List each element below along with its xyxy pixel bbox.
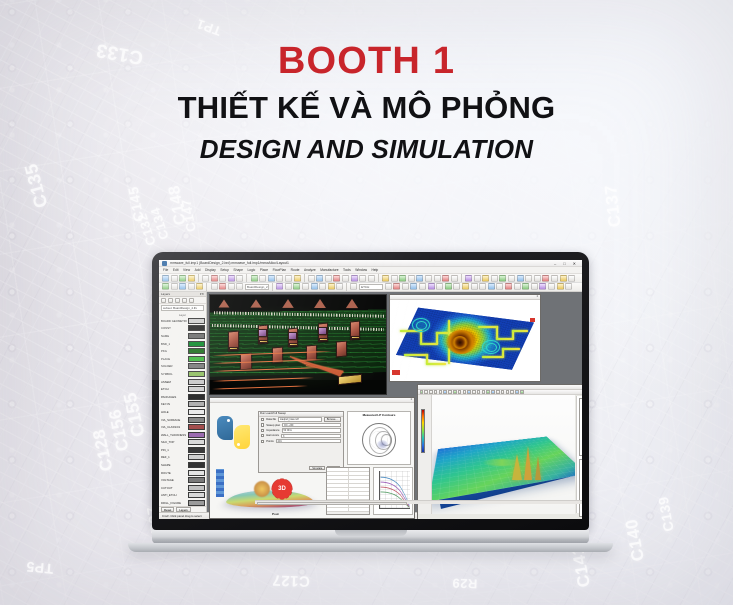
toolbar-button-icon[interactable]	[565, 283, 572, 290]
layer-color-swatch[interactable]	[188, 432, 205, 438]
toolbar-button-icon[interactable]	[391, 275, 398, 282]
layer-color-swatch[interactable]	[188, 348, 205, 354]
parameter-cell	[327, 472, 349, 475]
result-chart-selfheated[interactable]: Self-heated Current vs. DC Sweep (HPC) S…	[579, 398, 582, 456]
toolbar-separator	[378, 274, 379, 282]
menu-item-setup[interactable]: Setup	[220, 268, 229, 272]
toolbar-button-icon[interactable]	[402, 283, 409, 290]
surface-toolbar-button-icon[interactable]	[443, 390, 447, 394]
toolbar-button-icon[interactable]	[451, 275, 458, 282]
layer-list[interactable]: BOARD GEOMETRYCONSTNAMEBND_1PKGPLACESOLD…	[159, 317, 206, 506]
dialog-browse-button[interactable]: Browse…	[324, 417, 341, 422]
result-chart-temps[interactable]: Device Temps vs. Transient Data Thermal …	[579, 459, 582, 517]
layer-row[interactable]: SILK_TOP	[160, 439, 205, 447]
toolbar-button-icon[interactable]	[568, 275, 575, 282]
results-panel[interactable]: Self-heated Current vs. DC Sweep (HPC) S…	[576, 396, 582, 513]
layer-row[interactable]: BND_1	[160, 340, 205, 348]
toolbar-button-icon[interactable]	[499, 275, 506, 282]
result-chart-2-title: Device Temps vs. Transient Data	[580, 460, 582, 464]
em-transmission-line	[502, 348, 520, 350]
surface-toolbar-button-icon[interactable]	[439, 390, 443, 394]
toolbar-button-icon[interactable]	[531, 283, 538, 290]
toolbar-button-icon[interactable]	[410, 283, 417, 290]
parameter-cell	[349, 480, 370, 483]
toolbar-button-icon[interactable]	[434, 275, 441, 282]
eda-application-window: mmwave_full.imp1 (BoardDesign_2.brd) mmw…	[159, 260, 582, 519]
mini-surface-label: Pout	[272, 512, 279, 516]
layer-row-label: REF_1	[160, 455, 187, 459]
toolbar-button-icon[interactable]	[471, 283, 478, 290]
mini-surface-peak	[254, 481, 270, 497]
pcb-gold-pad	[229, 347, 238, 350]
layer-row-label: CONST	[160, 326, 187, 330]
toolbar-button-icon[interactable]	[171, 283, 178, 290]
surface-toolbar-button-icon[interactable]	[506, 390, 510, 394]
dialog-field-checkbox[interactable]	[261, 429, 264, 432]
python-logo-yellow-half	[234, 425, 250, 449]
app-toolbar-row2[interactable]: BoardDesign_2ETCH	[159, 283, 582, 291]
toolbar-button-icon[interactable]	[336, 283, 343, 290]
toolbar-button-icon[interactable]	[522, 283, 529, 290]
smith-chart-panel[interactable]: Measured LP Contours	[347, 411, 411, 465]
surface-toolbar-button-icon[interactable]	[482, 390, 486, 394]
toolbar-button-icon[interactable]	[276, 275, 283, 282]
toolbar-button-icon[interactable]	[350, 283, 357, 290]
toolbar-button-icon[interactable]	[196, 283, 203, 290]
parameter-cell	[327, 492, 349, 495]
pcb-die	[288, 332, 297, 340]
layer-color-swatch[interactable]	[188, 447, 205, 453]
layer-row[interactable]: VIA_SURFACE	[160, 416, 205, 424]
surface-toolbar-button-icon[interactable]	[520, 390, 524, 394]
layer-color-swatch[interactable]	[188, 424, 205, 430]
toolbar-button-icon[interactable]	[408, 275, 415, 282]
dialog-field-input[interactable]: loadpull_bias.mdf	[278, 417, 322, 421]
menu-item-logic[interactable]: Logic	[247, 268, 255, 272]
app-title-text: mmwave_full.imp1 (BoardDesign_2.brd) mmw…	[170, 261, 551, 265]
surface-toolbar-button-icon[interactable]	[434, 390, 438, 394]
dialog-field-row[interactable]: Points201	[259, 438, 343, 443]
pcb-fan-connector	[314, 299, 326, 308]
toolbar-button-icon[interactable]	[325, 275, 332, 282]
em-port-marker	[530, 318, 535, 322]
result-chart-1-title: Self-heated Current vs. DC Sweep (HPC)	[580, 399, 582, 403]
layer-row[interactable]: ANTI_ETCH	[160, 492, 205, 500]
parameter-cell	[327, 484, 349, 487]
layer-row[interactable]: ASSEM	[160, 378, 205, 386]
menu-item-window[interactable]: Window	[355, 268, 367, 272]
toolbar-button-icon[interactable]	[385, 283, 392, 290]
surface-colorbar	[421, 409, 425, 453]
toolbar-button-icon[interactable]	[368, 275, 375, 282]
layer-row-label: ROUTE	[160, 471, 187, 475]
dialog-field-checkbox[interactable]	[261, 440, 264, 443]
surface-toolbar-button-icon[interactable]	[448, 390, 452, 394]
layer-row-label: VIA_CLASS/01	[160, 425, 187, 429]
toolbar-button-icon[interactable]	[505, 283, 512, 290]
em-spiral-inductor	[486, 343, 497, 352]
surface-toolbar-button-icon[interactable]	[463, 390, 467, 394]
toolbar-button-icon[interactable]	[162, 283, 169, 290]
menu-item-display[interactable]: Display	[205, 268, 216, 272]
english-title: DESIGN AND SIMULATION	[0, 135, 733, 165]
maximize-icon[interactable]: □	[563, 261, 565, 266]
toolbar-separator	[346, 283, 347, 291]
surface-toolbar-button-icon[interactable]	[453, 390, 457, 394]
em-transmission-line	[404, 354, 428, 356]
layer-color-swatch[interactable]	[188, 470, 205, 476]
surface-toolbar-button-icon[interactable]	[501, 390, 505, 394]
canvas-horizontal-scrollbar[interactable]	[255, 500, 582, 504]
layer-row-label: PKG	[160, 349, 187, 353]
toolbar-button-icon[interactable]	[416, 275, 423, 282]
layer-row[interactable]: ETCH	[160, 385, 205, 393]
toolbar-button-icon[interactable]	[228, 275, 235, 282]
loadpull-gain-chart[interactable]	[373, 467, 413, 515]
toolbar-button-icon[interactable]	[462, 283, 469, 290]
python-window-close-icon[interactable]: ✕	[410, 398, 412, 401]
app-menubar[interactable]: FileEditViewAddDisplaySetupShapeLogicPla…	[159, 267, 582, 274]
toolbar-separator	[461, 274, 462, 282]
layer-row[interactable]: BOARD GEOMETRY	[160, 317, 205, 325]
layer-row[interactable]: PKG	[160, 347, 205, 355]
canvas-scrollbar-thumb[interactable]	[257, 502, 407, 505]
toolbar-button-icon[interactable]	[293, 283, 300, 290]
toolbar-button-icon[interactable]	[342, 275, 349, 282]
poster-headings: BOOTH 1 THIẾT KẾ VÀ MÔ PHỎNG DESIGN AND …	[0, 42, 733, 165]
layer-row[interactable]: NAME	[160, 332, 205, 340]
layer-color-swatch[interactable]	[188, 454, 205, 460]
layer-row-label: ETCH	[160, 387, 187, 391]
layer-color-swatch[interactable]	[188, 363, 205, 369]
mini-surface-mesh	[223, 490, 317, 507]
parameter-cell	[327, 508, 349, 511]
layer-filter-icon[interactable]	[182, 298, 187, 303]
loadpull-dialog-title: Run Load-Pull Sweep	[260, 412, 286, 415]
layer-new-icon[interactable]	[161, 298, 166, 303]
layer-row[interactable]: REF_1	[160, 454, 205, 462]
design-canvas[interactable]: EM Current Density ✕	[207, 292, 582, 513]
surface-toolbar-button-icon[interactable]	[477, 390, 481, 394]
menu-item-view[interactable]: View	[183, 268, 190, 272]
layer-edit-icon[interactable]	[168, 298, 173, 303]
layer-row-label: SILK_TOP	[160, 440, 187, 444]
toolbar-button-icon[interactable]	[442, 275, 449, 282]
layer-panel-toolbar[interactable]	[159, 297, 206, 304]
layer-row[interactable]: SHAPE	[160, 461, 205, 469]
surface-toolbar-button-icon[interactable]	[491, 390, 495, 394]
toolbar-button-icon[interactable]	[219, 283, 226, 290]
menu-item-place[interactable]: Place	[260, 268, 268, 272]
toolbar-button-icon[interactable]	[399, 275, 406, 282]
toolbar-button-icon[interactable]	[162, 275, 169, 282]
toolbar-button-icon[interactable]	[219, 275, 226, 282]
python-logo-blue-half	[217, 416, 233, 440]
toolbar-button-icon[interactable]	[382, 275, 389, 282]
layer-row[interactable]: VIA_CLASS/01	[160, 423, 205, 431]
surface-toolbar-button-icon[interactable]	[472, 390, 476, 394]
em-transmission-line	[482, 356, 504, 358]
toolbar-button-icon[interactable]	[465, 275, 472, 282]
loadpull-dialog-fields[interactable]: Data fileloadpull_bias.mdfBrowse…Sweep p…	[259, 417, 343, 444]
toolbar-button-icon[interactable]	[517, 275, 524, 282]
menu-item-add[interactable]: Add	[195, 268, 201, 272]
surface-toolbar-button-icon[interactable]	[515, 390, 519, 394]
dialog-field-checkbox[interactable]	[261, 434, 264, 437]
layer-color-swatch[interactable]	[188, 439, 205, 445]
dialog-field-input[interactable]: 3	[281, 434, 341, 438]
toolbar-button-icon[interactable]	[188, 275, 195, 282]
toolbar-button-icon[interactable]	[436, 283, 443, 290]
smith-chart-title: Measured LP Contours	[348, 412, 410, 417]
layer-row-label: PACKAGES	[160, 395, 187, 399]
toolbar-button-icon[interactable]	[236, 283, 243, 290]
menu-item-manufacture[interactable]: Manufacture	[320, 268, 338, 272]
toolbar-button-icon[interactable]	[228, 283, 235, 290]
layer-row[interactable]: VOLTAGE	[160, 476, 205, 484]
toolbar-button-icon[interactable]	[211, 283, 218, 290]
dialog-field-input[interactable]: 201	[276, 439, 341, 443]
layer-row-label: VIA_SURFACE	[160, 418, 187, 422]
booth-number-title: BOOTH 1	[0, 42, 733, 82]
menu-item-file[interactable]: File	[163, 268, 168, 272]
layer-row-label: SHAPE	[160, 463, 187, 467]
toolbar-button-icon[interactable]	[548, 283, 555, 290]
surface-3d-viewport[interactable]	[432, 395, 575, 514]
surface-toolbar-button-icon[interactable]	[458, 390, 462, 394]
layer-color-swatch[interactable]	[188, 325, 205, 331]
em-simulation-window[interactable]: EM Current Density ✕	[389, 294, 541, 382]
pcb-die	[318, 327, 327, 335]
toolbar-button-icon[interactable]	[560, 275, 567, 282]
menu-item-route[interactable]: Route	[291, 268, 300, 272]
app-toolbar-row1[interactable]	[159, 274, 582, 283]
parameter-table-rows	[327, 468, 369, 512]
pcb-3d-layout-window[interactable]	[209, 294, 387, 395]
pcb-gold-pad	[319, 338, 328, 341]
toolbar-button-icon[interactable]	[308, 275, 315, 282]
python-logo-blue-eye	[227, 419, 230, 422]
dialog-field-label: Sweep plan	[266, 424, 280, 427]
toolbar-button-icon[interactable]	[285, 283, 292, 290]
python-logo	[217, 416, 250, 449]
dialog-field-checkbox[interactable]	[261, 418, 264, 421]
layer-row[interactable]: KEY-IN	[160, 401, 205, 409]
toolbar-button-icon[interactable]	[294, 275, 301, 282]
layer-color-swatch[interactable]	[188, 409, 205, 415]
layer-row-label: NAME	[160, 334, 187, 338]
layer-row-label: ANTI_ETCH	[160, 493, 187, 497]
dialog-field-label: Harmonics	[266, 434, 279, 437]
toolbar-button-icon[interactable]	[276, 283, 283, 290]
layer-row[interactable]: ROUTE	[160, 469, 205, 477]
menu-item-help[interactable]: Help	[371, 268, 378, 272]
toolbar-button-icon[interactable]	[202, 275, 209, 282]
layer-subset-select[interactable]: subset: BoardDesign_2.lfs	[161, 305, 204, 311]
design-name-field[interactable]: BoardDesign_2	[245, 284, 269, 291]
layer-color-swatch[interactable]	[188, 492, 205, 498]
layer-color-swatch[interactable]	[188, 341, 205, 347]
toolbar-button-icon[interactable]	[316, 275, 323, 282]
toolbar-button-icon[interactable]	[179, 275, 186, 282]
layer-row[interactable]: PIN_1	[160, 446, 205, 454]
toolbar-button-icon[interactable]	[482, 275, 489, 282]
laptop-screen: mmwave_full.imp1 (BoardDesign_2.brd) mmw…	[159, 260, 582, 519]
toolbar-button-icon[interactable]	[496, 283, 503, 290]
layer-color-swatch[interactable]	[188, 356, 205, 362]
toolbar-button-icon[interactable]	[302, 283, 309, 290]
pcb-gold-pad	[259, 340, 268, 343]
layer-color-swatch[interactable]	[188, 462, 205, 468]
toolbar-button-icon[interactable]	[333, 275, 340, 282]
app-titlebar: mmwave_full.imp1 (BoardDesign_2.brd) mmw…	[159, 260, 582, 267]
layer-color-swatch[interactable]	[188, 318, 205, 324]
layer-color-swatch[interactable]	[188, 417, 205, 423]
toolbar-button-icon[interactable]	[251, 275, 258, 282]
toolbar-button-icon[interactable]	[453, 283, 460, 290]
toolbar-button-icon[interactable]	[542, 275, 549, 282]
toolbar-button-icon[interactable]	[479, 283, 486, 290]
menu-item-tools[interactable]: Tools	[343, 268, 351, 272]
menu-item-shape[interactable]: Shape	[233, 268, 243, 272]
layer-row[interactable]: PACKAGES	[160, 393, 205, 401]
toolbar-button-icon[interactable]	[393, 283, 400, 290]
toolbar-button-icon[interactable]	[525, 275, 532, 282]
toolbar-button-icon[interactable]	[171, 275, 178, 282]
dialog-field-input[interactable]: 50 Ohm	[282, 428, 342, 432]
layer-color-swatch[interactable]	[188, 485, 205, 491]
layer-color-swatch[interactable]	[188, 386, 205, 392]
layer-panel-footer[interactable]: Reset Layers	[159, 506, 206, 513]
toolbar-button-icon[interactable]	[534, 275, 541, 282]
toolbar-button-icon[interactable]	[557, 283, 564, 290]
minimize-icon[interactable]: –	[554, 261, 556, 266]
surface-peak-3	[535, 456, 541, 480]
app-icon	[162, 261, 167, 266]
layer-color-swatch[interactable]	[188, 371, 205, 377]
pcb-chip	[336, 340, 347, 357]
toolbar-button-icon[interactable]	[425, 275, 432, 282]
em-transmission-line	[420, 330, 422, 344]
parameter-cell	[349, 468, 370, 471]
layer-row-label: CUTOUT	[160, 486, 187, 490]
active-class-field[interactable]: ETCH	[359, 284, 383, 291]
parameter-table-panel[interactable]	[326, 467, 370, 515]
em-transmission-line	[448, 348, 450, 364]
toolbar-button-icon[interactable]	[428, 283, 435, 290]
layer-row-label: VOLTAGE	[160, 478, 187, 482]
surface-toolbar-button-icon[interactable]	[486, 390, 490, 394]
result-chart-2-xlabel: time (us)	[580, 514, 582, 516]
toolbar-button-icon[interactable]	[179, 283, 186, 290]
toolbar-button-icon[interactable]	[359, 275, 366, 282]
em-transmission-line	[512, 330, 528, 332]
layer-row[interactable]: SOLDER	[160, 363, 205, 371]
surface-toolbar-button-icon[interactable]	[429, 390, 433, 394]
dialog-field-input[interactable]: DC + RF	[282, 423, 341, 427]
layer-delete-icon[interactable]	[175, 298, 180, 303]
toolbar-button-icon[interactable]	[419, 283, 426, 290]
toolbar-button-icon[interactable]	[514, 283, 521, 290]
pcb-fan-connector	[346, 298, 358, 307]
surface-toolbar-button-icon[interactable]	[510, 390, 514, 394]
toolbar-button-icon[interactable]	[491, 275, 498, 282]
em-window-close-icon[interactable]: ✕	[536, 295, 538, 298]
window-controls[interactable]: – □ ✕	[554, 261, 579, 266]
layer-color-swatch[interactable]	[188, 477, 205, 483]
menu-item-edit[interactable]: Edit	[173, 268, 179, 272]
parameter-cell	[349, 472, 370, 475]
pcb-bus-trace	[212, 385, 308, 389]
layer-row-label: BND_1	[160, 342, 187, 346]
toolbar-button-icon[interactable]	[445, 283, 452, 290]
layer-row[interactable]: CUTOUT	[160, 484, 205, 492]
parameter-cell	[349, 488, 370, 491]
toolbar-button-icon[interactable]	[539, 283, 546, 290]
pcb-3d-render	[210, 295, 386, 394]
toolbar-button-icon[interactable]	[488, 283, 495, 290]
three-d-badge-label: 3D	[278, 486, 286, 492]
layer-panel-pin-icon[interactable]: ▾✕	[200, 292, 204, 296]
layer-row[interactable]: CONST	[160, 325, 205, 333]
close-icon[interactable]: ✕	[573, 261, 576, 266]
surface-toolbar-button-icon[interactable]	[467, 390, 471, 394]
surface-toolbar-button-icon[interactable]	[424, 390, 428, 394]
em-transmission-line	[436, 332, 438, 344]
toolbar-button-icon[interactable]	[285, 275, 292, 282]
parameter-cell	[349, 492, 370, 495]
layer-color-swatch[interactable]	[188, 401, 205, 407]
layer-row[interactable]: PLACE	[160, 355, 205, 363]
layer-row-label: SOLDER	[160, 364, 187, 368]
layer-panel-title: Layers	[161, 292, 170, 296]
toolbar-button-icon[interactable]	[211, 275, 218, 282]
toolbar-button-icon[interactable]	[259, 275, 266, 282]
toolbar-button-icon[interactable]	[188, 283, 195, 290]
dialog-field-checkbox[interactable]	[261, 423, 264, 426]
pcb-gold-pad	[289, 343, 298, 346]
toolbar-button-icon[interactable]	[319, 283, 326, 290]
parameter-table-row	[327, 508, 369, 512]
surface-toolbar-button-icon[interactable]	[420, 390, 424, 394]
toolbar-button-icon[interactable]	[551, 275, 558, 282]
toolbar-button-icon[interactable]	[474, 275, 481, 282]
layer-color-swatch[interactable]	[188, 333, 205, 339]
pcb-die	[258, 329, 267, 337]
menu-item-analyze[interactable]: Analyze	[304, 268, 316, 272]
layer-color-swatch[interactable]	[188, 394, 205, 400]
toolbar-button-icon[interactable]	[311, 283, 318, 290]
toolbar-button-icon[interactable]	[236, 275, 243, 282]
layer-color-swatch[interactable]	[188, 379, 205, 385]
layer-row[interactable]: WALL_THICKNESS	[160, 431, 205, 439]
mini-surface-panel[interactable]: 3D Pout	[214, 463, 322, 518]
toolbar-button-icon[interactable]	[508, 275, 515, 282]
surface-3d-window[interactable]: Thermal / EM Surface ✕	[417, 384, 582, 519]
menu-item-flowplan[interactable]: FlowPlan	[273, 268, 287, 272]
layer-row[interactable]: HOLE	[160, 408, 205, 416]
vietnamese-title: THIẾT KẾ VÀ MÔ PHỎNG	[0, 90, 733, 127]
toolbar-button-icon[interactable]	[328, 283, 335, 290]
layer-row[interactable]: SYMBOL	[160, 370, 205, 378]
layer-row-label: PLACE	[160, 357, 187, 361]
layer-color-icon[interactable]	[189, 298, 194, 303]
result-chart-1-xlabel: VDS (V)	[580, 453, 582, 455]
surface-toolbar-button-icon[interactable]	[496, 390, 500, 394]
layer-panel[interactable]: Layers ▾✕ subset: Board	[159, 292, 207, 513]
toolbar-button-icon[interactable]	[351, 275, 358, 282]
toolbar-button-icon[interactable]	[268, 275, 275, 282]
